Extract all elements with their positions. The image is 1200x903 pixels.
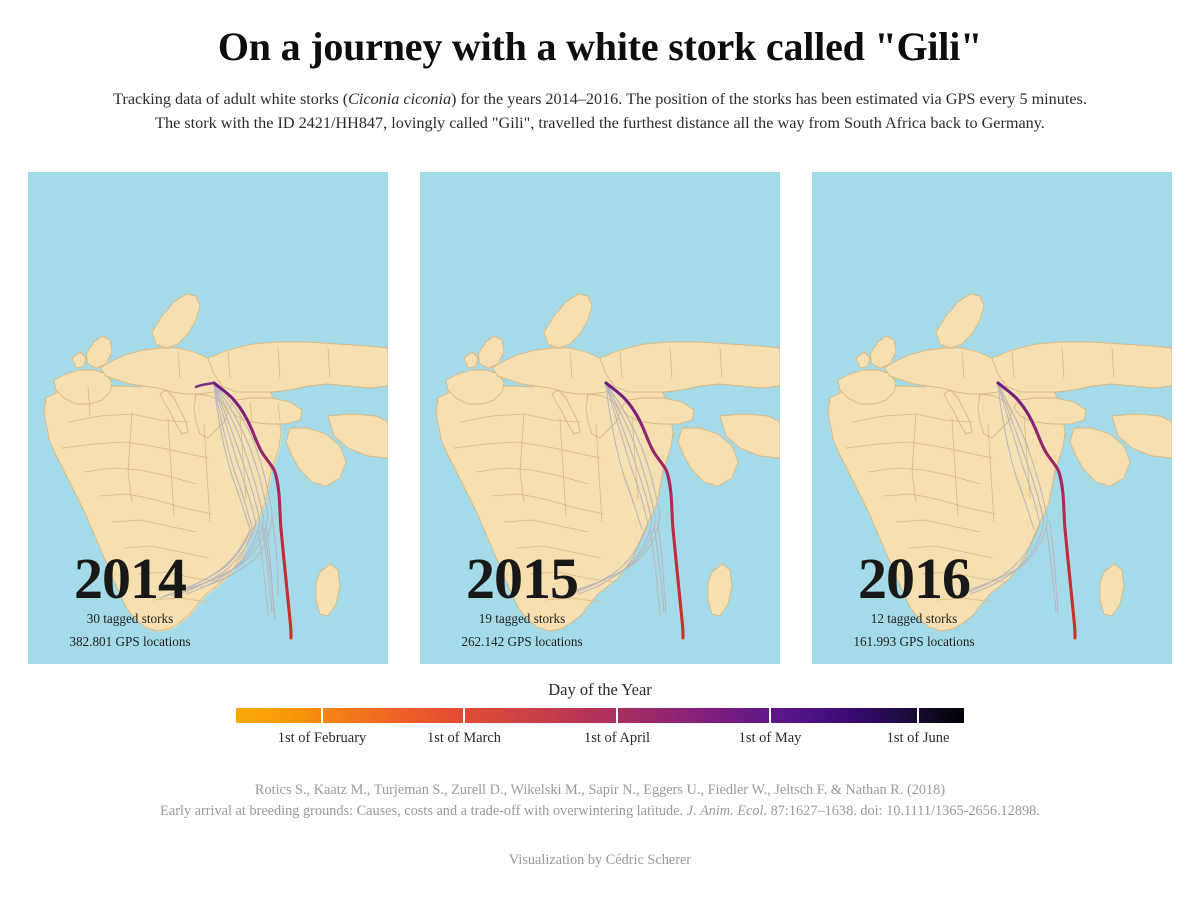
legend-label-apr: 1st of April bbox=[584, 730, 650, 747]
map-svg-2014 bbox=[28, 172, 388, 664]
subtitle-line1-part-b: ) for the years 2014–2016. The position … bbox=[451, 90, 1087, 108]
subtitle: Tracking data of adult white storks (Cic… bbox=[40, 88, 1160, 136]
citation-title: Early arrival at breeding grounds: Cause… bbox=[160, 803, 687, 819]
subtitle-line2: The stork with the ID 2421/HH847, loving… bbox=[40, 112, 1160, 136]
species-name: Ciconia ciconia bbox=[348, 90, 451, 108]
legend-tick-mar bbox=[463, 708, 465, 723]
citation-line-authors: Rotics S., Kaatz M., Turjeman S., Zurell… bbox=[0, 780, 1200, 801]
legend-tick-feb bbox=[321, 708, 323, 723]
source-citation: Rotics S., Kaatz M., Turjeman S., Zurell… bbox=[0, 780, 1200, 823]
legend-title: Day of the Year bbox=[0, 680, 1200, 700]
subtitle-line1-part-a: Tracking data of adult white storks ( bbox=[113, 90, 348, 108]
citation-journal: J. Anim. Ecol. bbox=[687, 803, 767, 819]
legend-gradient-bar[interactable] bbox=[236, 708, 964, 723]
legend-label-feb: 1st of February bbox=[278, 730, 367, 747]
map-panel-2016[interactable]: 2016 12 tagged storks 161.993 GPS locati… bbox=[812, 172, 1172, 664]
legend-bar-wrap: 1st of February 1st of March 1st of Apri… bbox=[236, 708, 964, 752]
map-panel-2014[interactable]: 2014 30 tagged storks 382.801 GPS locati… bbox=[28, 172, 388, 664]
legend-tick-jun bbox=[917, 708, 919, 723]
legend-labels: 1st of February 1st of March 1st of Apri… bbox=[236, 730, 964, 752]
map-svg-2015 bbox=[420, 172, 780, 664]
citation-pages-doi: 87:1627–1638. doi: 10.1111/1365-2656.128… bbox=[767, 803, 1040, 819]
map-panel-row: 2014 30 tagged storks 382.801 GPS locati… bbox=[28, 172, 1172, 664]
color-legend: Day of the Year 1st of February 1st of M… bbox=[0, 680, 1200, 752]
legend-label-may: 1st of May bbox=[739, 730, 802, 747]
legend-label-jun: 1st of June bbox=[887, 730, 950, 747]
header: On a journey with a white stork called "… bbox=[0, 0, 1200, 136]
map-svg-2016 bbox=[812, 172, 1172, 664]
visualization-credit: Visualization by Cédric Scherer bbox=[0, 852, 1200, 869]
legend-tick-may bbox=[769, 708, 771, 723]
citation-line-reference: Early arrival at breeding grounds: Cause… bbox=[0, 801, 1200, 822]
map-panel-2015[interactable]: 2015 19 tagged storks 262.142 GPS locati… bbox=[420, 172, 780, 664]
legend-tick-apr bbox=[616, 708, 618, 723]
legend-label-mar: 1st of March bbox=[427, 730, 501, 747]
page-title: On a journey with a white stork called "… bbox=[0, 24, 1200, 70]
